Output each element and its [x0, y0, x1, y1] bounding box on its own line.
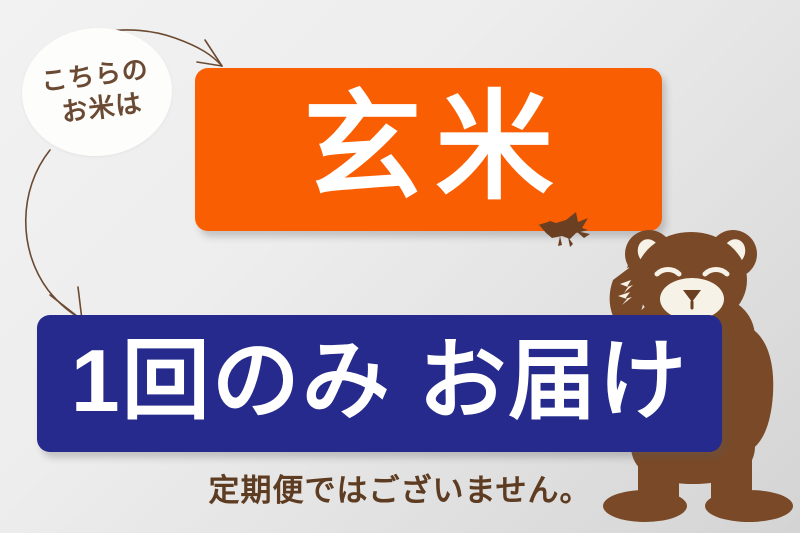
- product-type-label: 玄米: [289, 89, 567, 207]
- speech-bubble: こちらの お米は: [18, 23, 177, 161]
- delivery-frequency-banner: 1回のみ お届け: [37, 315, 722, 452]
- curved-arrow-top-head-2: [197, 62, 222, 66]
- speech-bubble-line-2: お米は: [54, 89, 144, 127]
- subscription-disclaimer: 定期便ではございません。: [0, 465, 800, 510]
- curved-arrow-top-head-1: [205, 40, 222, 66]
- promo-banner: こちらの お米は 玄米: [0, 0, 800, 533]
- speech-bubble-text: こちらの お米は: [15, 19, 179, 164]
- curved-arrow-to-blue-banner-path: [26, 150, 82, 320]
- flying-bird-icon: [536, 206, 592, 250]
- delivery-frequency-label: 1回のみ お届け: [71, 337, 688, 425]
